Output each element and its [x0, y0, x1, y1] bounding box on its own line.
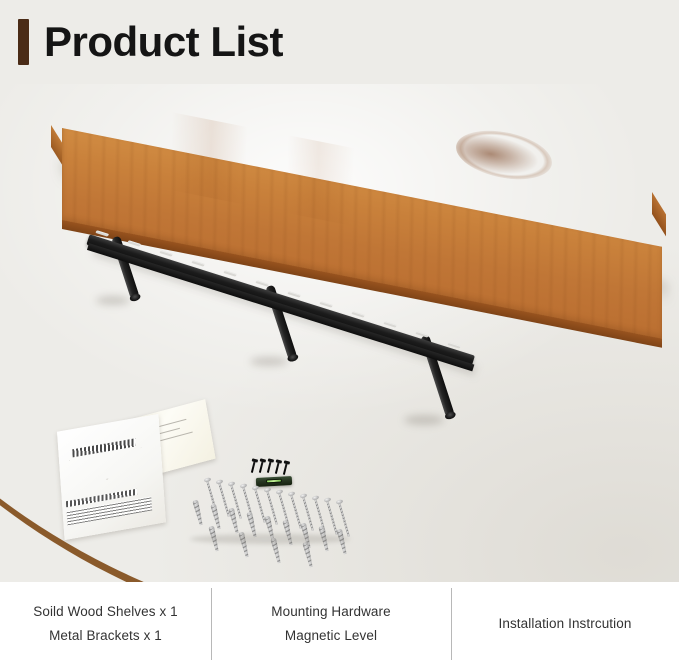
magnetic-level	[256, 476, 292, 487]
footer-column-shelf: Soild Wood Shelves x 1 Metal Brackets x …	[0, 582, 211, 666]
mounting-screw	[254, 488, 266, 523]
board-right-end-cap	[652, 192, 666, 236]
footer-line: Mounting Hardware	[271, 603, 391, 621]
small-black-screw	[275, 461, 280, 474]
manual-sheet-front	[57, 414, 166, 540]
level-bubble-vial	[266, 479, 282, 484]
wood-knot	[455, 125, 553, 185]
arm-shadow	[250, 357, 288, 366]
mounting-screw	[290, 494, 302, 529]
rail-slot	[191, 260, 205, 267]
mounting-screw	[218, 482, 230, 517]
footer-line: Installation Instrcution	[499, 615, 632, 633]
product-photo	[0, 84, 679, 582]
rail-slot	[159, 250, 173, 257]
footer-line: Soild Wood Shelves x 1	[33, 603, 178, 621]
wall-anchor	[302, 541, 314, 568]
arm-shadow	[404, 415, 444, 425]
wall-anchor	[192, 499, 204, 526]
arm-shadow	[96, 296, 130, 305]
page-title: Product List	[44, 14, 283, 70]
rail-slot	[255, 280, 269, 287]
footer-column-instruction: Installation Instrcution	[451, 582, 679, 666]
footer-line: Magnetic Level	[285, 627, 377, 645]
small-black-screw	[267, 460, 272, 473]
rail-slot	[223, 270, 237, 277]
product-list-infographic: Product List	[0, 0, 679, 666]
small-black-screw	[259, 460, 264, 473]
accent-bar	[18, 19, 29, 65]
bracket-rail-face	[87, 243, 474, 371]
footer-line: Metal Brackets x 1	[49, 627, 162, 645]
footer-band: Soild Wood Shelves x 1 Metal Brackets x …	[0, 582, 679, 666]
small-black-screw	[283, 462, 288, 475]
footer-divider	[211, 588, 212, 660]
hardware-shadow	[190, 534, 350, 544]
mounting-hardware-group	[186, 452, 356, 562]
footer-divider	[451, 588, 452, 660]
header-band: Product List	[0, 0, 679, 84]
small-black-screw	[251, 460, 256, 473]
footer-column-hardware: Mounting Hardware Magnetic Level	[211, 582, 451, 666]
rail-slot	[127, 240, 141, 247]
mounting-screw	[326, 500, 338, 535]
